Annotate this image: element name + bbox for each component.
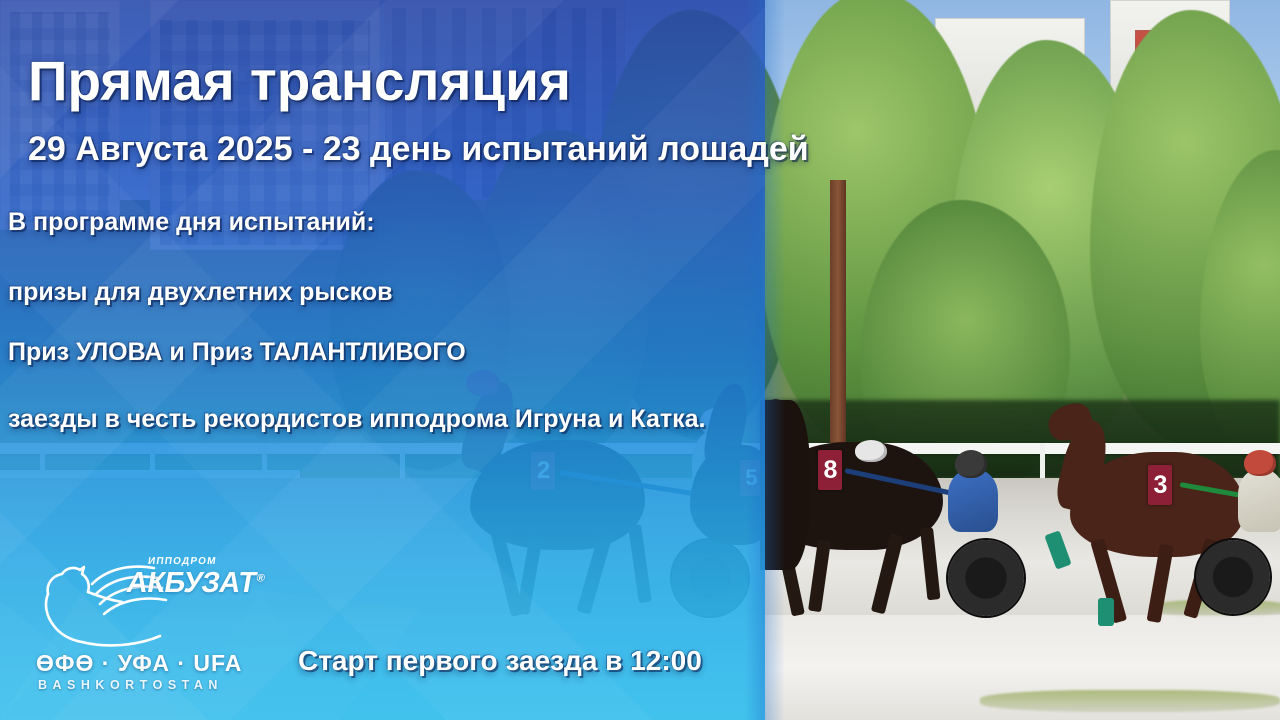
driver-helmet [1244, 450, 1276, 476]
logo-wordmark-top: ИППОДРОМ [147, 556, 217, 567]
driver-figure [948, 470, 998, 532]
start-time-text: Старт первого заезда в 12:00 [298, 645, 702, 677]
horse-leg-wrap [1098, 598, 1114, 626]
horse-head-gear [855, 440, 887, 462]
logo-wordmark-main: АКБУЗАТ® [124, 567, 266, 600]
logo-region-line: BASHKORTOSTAN [38, 678, 223, 692]
program-line-1: призы для двухлетних рысков [8, 278, 393, 307]
sulky-wheel [948, 540, 1024, 616]
saddlecloth-number-8: 8 [818, 450, 842, 490]
page-title: Прямая трансляция [28, 48, 571, 113]
horse-partial-left-edge [760, 400, 810, 570]
program-line-2: Приз УЛОВА и Приз ТАЛАНТЛИВОГО [8, 338, 466, 367]
broadcast-announcement-poster: 2 5 8 [0, 0, 1280, 720]
logo-city-line: ӨФӨ · УФА · UFA [36, 650, 242, 677]
program-line-heading: В программе дня испытаний: [8, 208, 375, 237]
driver-figure [1238, 470, 1280, 532]
saddlecloth-number-3: 3 [1148, 465, 1172, 505]
driver-helmet [955, 450, 987, 478]
program-line-3: заезды в честь рекордистов ипподрома Игр… [8, 405, 705, 434]
saddlecloth-label: 3 [1154, 471, 1167, 500]
grass-strip [980, 690, 1280, 712]
sulky-wheel [1196, 540, 1270, 614]
event-date-subtitle: 29 Августа 2025 - 23 день испытаний лоша… [28, 130, 809, 169]
wooden-post [830, 180, 846, 450]
fence-post [1040, 443, 1045, 483]
saddlecloth-label: 8 [824, 456, 837, 485]
